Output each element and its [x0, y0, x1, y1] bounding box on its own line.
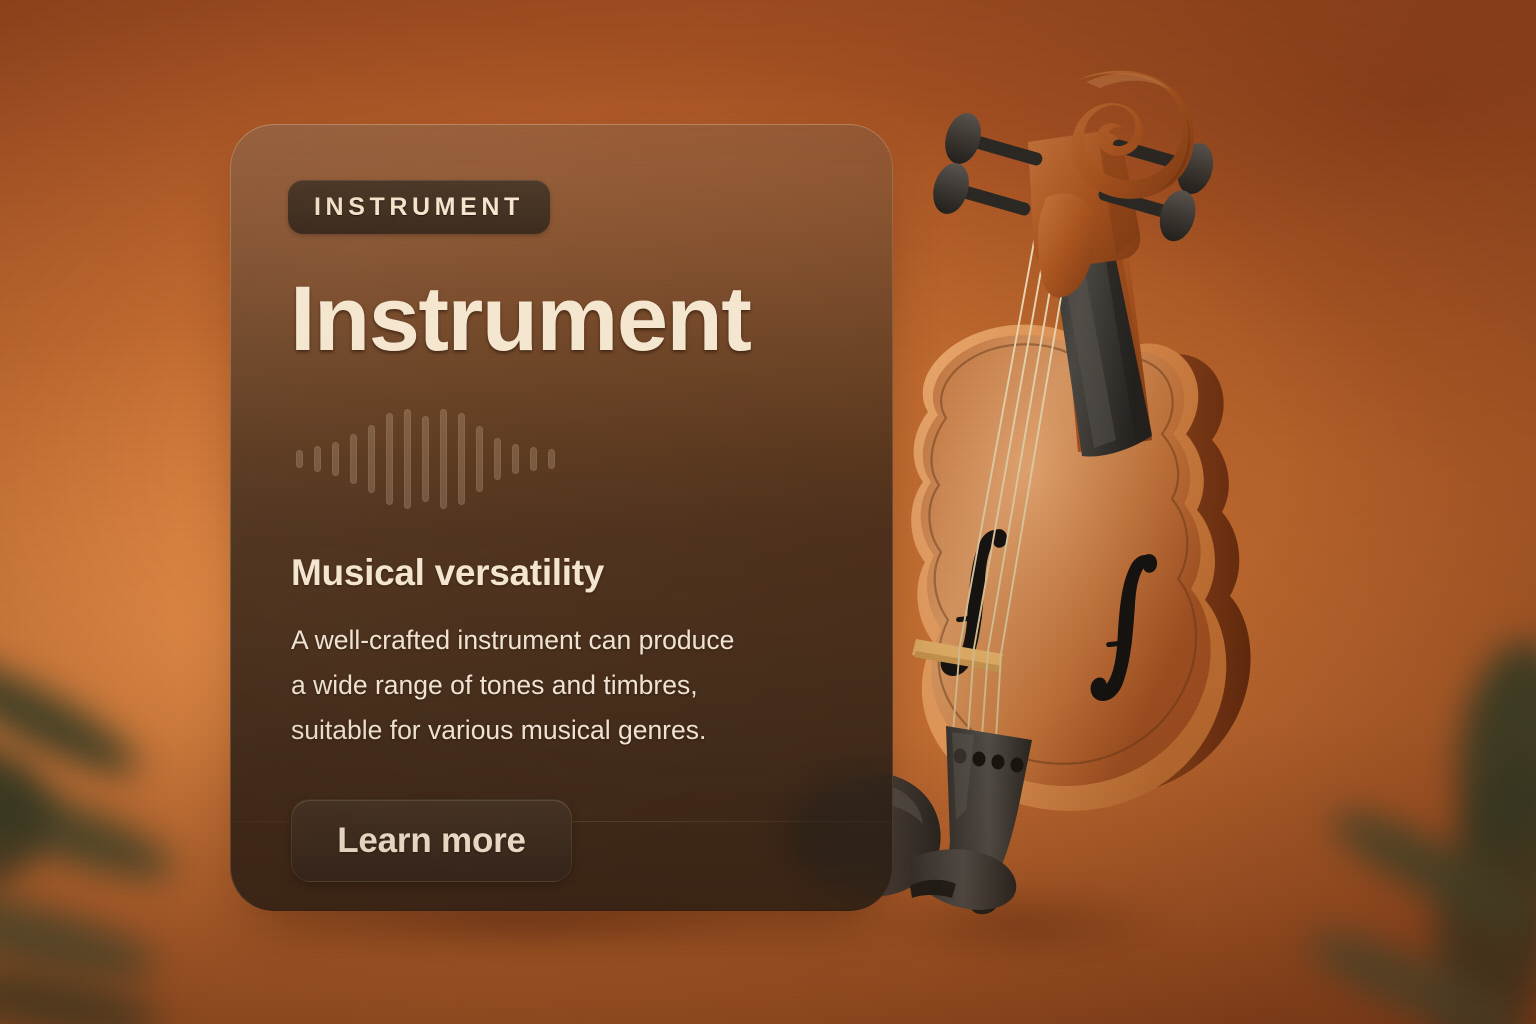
film-grain-overlay [0, 0, 1536, 1024]
scene-background: INSTRUMENT Instrument Musical versatilit… [0, 0, 1536, 1024]
